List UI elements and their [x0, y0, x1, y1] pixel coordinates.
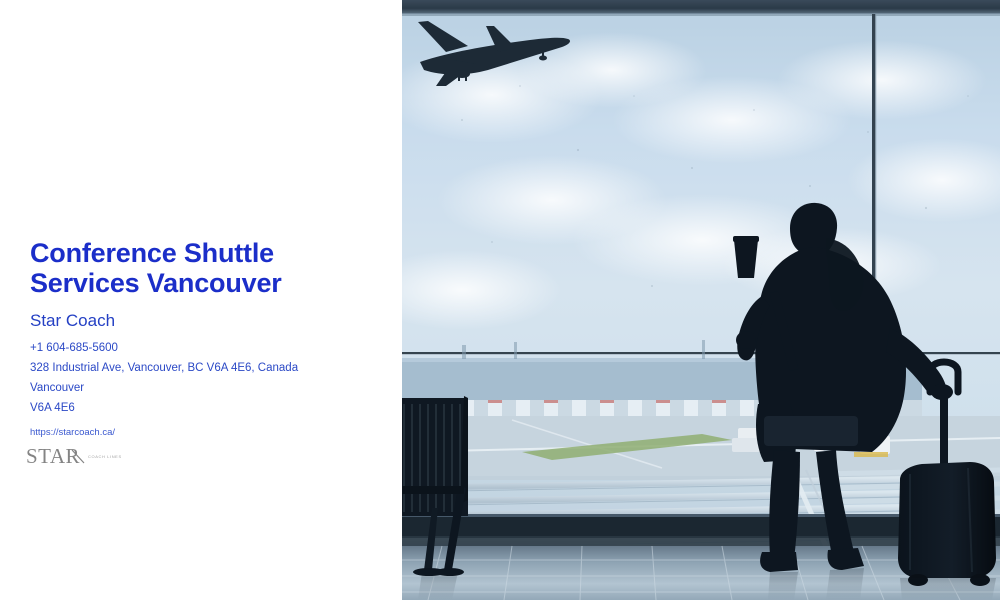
window-frame-top [402, 0, 1000, 14]
star-coach-logo: STAR COACH LINES [26, 444, 176, 472]
airport-terminal-illustration [402, 0, 1000, 600]
street-address: 328 Industrial Ave, Vancouver, BC V6A 4E… [30, 358, 380, 378]
address-postal-code: V6A 4E6 [30, 398, 380, 418]
svg-text:STAR: STAR [26, 444, 80, 468]
phone-number[interactable]: +1 604-685-5600 [30, 338, 380, 358]
info-content: Conference Shuttle Services Vancouver St… [30, 238, 380, 442]
website-link[interactable]: https://starcoach.ca/ [30, 424, 380, 442]
hero-photo [402, 0, 1000, 600]
business-listing-card: Conference Shuttle Services Vancouver St… [0, 0, 1000, 600]
logo-wordmark-icon: STAR COACH LINES [26, 444, 176, 472]
info-panel: Conference Shuttle Services Vancouver St… [0, 0, 402, 600]
address-city: Vancouver [30, 378, 380, 398]
page-title: Conference Shuttle Services Vancouver [30, 238, 380, 298]
business-name: Star Coach [30, 310, 380, 331]
svg-text:COACH LINES: COACH LINES [88, 454, 122, 459]
